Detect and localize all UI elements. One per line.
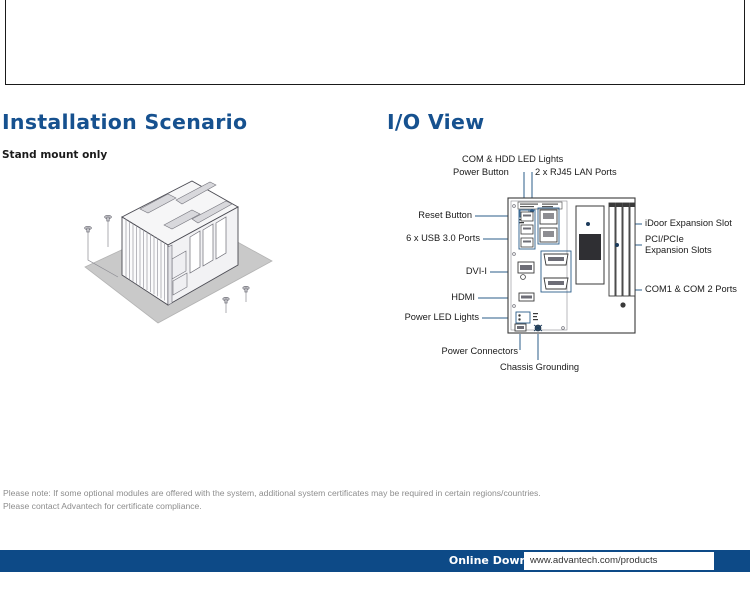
disclaimer-note-line1: Please note: If some optional modules ar… xyxy=(3,487,541,500)
io-callout-reset-button: Reset Button xyxy=(380,210,472,221)
io-callout-pci-pcie: PCI/PCIe xyxy=(645,234,684,245)
page-title-io-view: I/O View xyxy=(387,110,484,134)
io-callout-hdmi: HDMI xyxy=(380,292,475,303)
io-callout-expansion-slots: Expansion Slots xyxy=(645,245,712,256)
io-callout-com-hdd-led-lights: COM & HDD LED Lights xyxy=(462,154,563,165)
disclaimer-note-line2: Please contact Advantech for certificate… xyxy=(3,500,541,513)
io-callout-rj45-lan-ports: 2 x RJ45 LAN Ports xyxy=(535,167,617,178)
io-callout-dvi-i: DVI-I xyxy=(380,266,487,277)
io-callout-power-connectors: Power Connectors xyxy=(380,346,518,357)
installation-subtitle: Stand mount only xyxy=(2,149,107,161)
disclaimer-note: Please note: If some optional modules ar… xyxy=(3,487,541,514)
top-drawing-border-box xyxy=(5,0,745,85)
io-callout-power-button: Power Button xyxy=(453,167,509,178)
io-callout-power-led-lights: Power LED Lights xyxy=(380,312,479,323)
installation-scenario-illustration xyxy=(40,175,360,345)
footer-url-link[interactable]: www.advantech.com/products xyxy=(530,555,657,566)
datasheet-page: Installation Scenario Stand mount only I… xyxy=(0,0,750,591)
page-title-installation-scenario: Installation Scenario xyxy=(2,110,247,134)
io-callout-com1-com2-ports: COM1 & COM 2 Ports xyxy=(645,284,737,295)
io-callout-idoor-expansion-slot: iDoor Expansion Slot xyxy=(645,218,732,229)
io-view-diagram: COM & HDD LED Lights Power Button 2 x RJ… xyxy=(380,150,750,380)
io-callout-chassis-grounding: Chassis Grounding xyxy=(500,362,579,373)
io-callout-usb-30-ports: 6 x USB 3.0 Ports xyxy=(380,233,480,244)
